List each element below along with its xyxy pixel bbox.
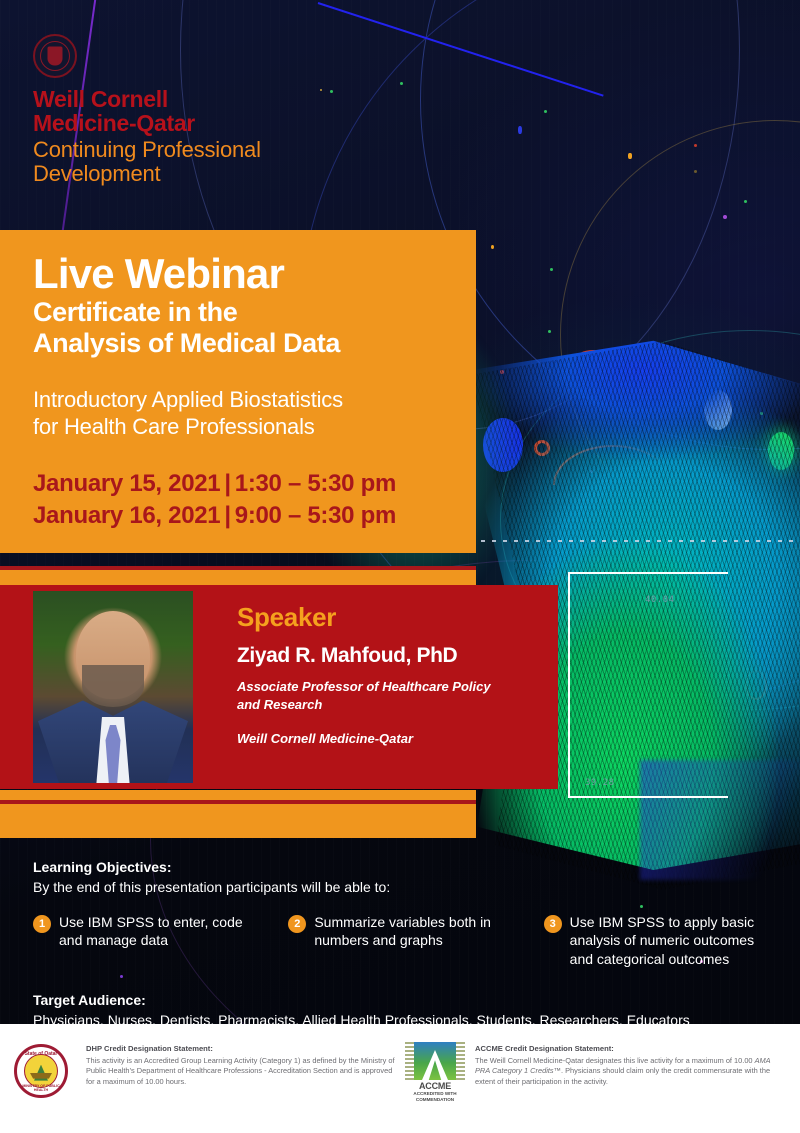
accme-logo-name: ACCME [405, 1081, 465, 1091]
dhp-statement-title: DHP Credit Designation Statement: [86, 1044, 395, 1055]
portrait-beard-shape [82, 665, 144, 707]
moph-seal-inner [24, 1054, 58, 1088]
divider-bar [0, 570, 476, 585]
cornell-seal-icon [33, 34, 77, 78]
accme-seal-icon: ACCME ACCREDITED WITH COMMENDATION [405, 1042, 465, 1133]
qatar-moph-seal-icon: State of Qatar MINISTRY OF PUBLIC HEALTH [14, 1042, 76, 1133]
objectives-lead: By the end of this presentation particip… [33, 879, 773, 895]
event-time: 1:30 – 5:30 pm [235, 470, 396, 497]
event-title-line2: Analysis of Medical Data [33, 328, 450, 359]
objectives-heading: Learning Objectives: [33, 859, 773, 875]
learning-objectives-section: Learning Objectives: By the end of this … [33, 859, 773, 1028]
event-date-row: January 15, 2021|1:30 – 5:30 pm [33, 468, 450, 500]
event-dates: January 15, 2021|1:30 – 5:30 pm January … [33, 468, 450, 533]
accme-body-part1: The Weill Cornell Medicine-Qatar designa… [475, 1056, 755, 1065]
accme-statement: ACCME Credit Designation Statement: The … [475, 1042, 786, 1133]
accme-logo-row [405, 1042, 465, 1080]
accme-logo-sub-line2: COMMENDATION [405, 1097, 465, 1103]
divider-bar [0, 790, 476, 800]
particle-dot [491, 245, 494, 249]
brand-name-line2: Medicine-Qatar [33, 111, 453, 135]
speaker-role-line1: Associate Professor of Healthcare Policy [237, 678, 547, 696]
event-subtitle-line2: for Health Care Professionals [33, 414, 450, 440]
accme-wreath-right [456, 1042, 465, 1080]
brand-sub-line2: Development [33, 162, 453, 186]
accme-mark-shape [414, 1042, 456, 1080]
particle-dot [723, 215, 727, 219]
date-separator: | [220, 502, 234, 529]
date-separator: | [220, 470, 234, 497]
divider-bar [0, 804, 476, 838]
event-date: January 16, 2021 [33, 502, 220, 529]
speaker-role-line2: and Research [237, 696, 547, 714]
objective-number-badge: 2 [288, 915, 306, 933]
brand-name: Weill Cornell Medicine-Qatar [33, 87, 453, 136]
speaker-role: Associate Professor of Healthcare Policy… [237, 678, 547, 713]
seal-shield-shape [48, 47, 63, 66]
webinar-poster: 40.04 39.28 Weill Cornell Medicine-Qatar… [0, 0, 800, 1133]
moph-top-text: State of Qatar [17, 1051, 65, 1057]
speaker-kicker: Speaker [237, 602, 547, 633]
moph-bottom-text: MINISTRY OF PUBLIC HEALTH [17, 1084, 65, 1092]
objective-number-badge: 1 [33, 915, 51, 933]
particle-dot [694, 170, 697, 173]
objective-text: Summarize variables both in numbers and … [314, 913, 517, 968]
mesh-axis-line [470, 540, 800, 542]
accreditation-footer: State of Qatar MINISTRY OF PUBLIC HEALTH… [0, 1024, 800, 1133]
brand-header: Weill Cornell Medicine-Qatar Continuing … [33, 34, 453, 186]
speaker-details: Speaker Ziyad R. Mahfoud, PhD Associate … [237, 602, 547, 746]
event-title-line1: Certificate in the [33, 297, 450, 328]
speaker-portrait [33, 591, 193, 783]
particle-dot [518, 126, 522, 134]
accme-accreditation-block: ACCME ACCREDITED WITH COMMENDATION ACCME… [405, 1042, 786, 1133]
brand-name-line1: Weill Cornell [33, 87, 453, 111]
speaker-organization: Weill Cornell Medicine-Qatar [237, 731, 547, 746]
moph-seal-shape: State of Qatar MINISTRY OF PUBLIC HEALTH [14, 1044, 68, 1098]
objective-text: Use IBM SPSS to enter, code and manage d… [59, 913, 262, 968]
objective-item: 1 Use IBM SPSS to enter, code and manage… [33, 913, 262, 968]
brand-sub-line1: Continuing Professional [33, 138, 453, 162]
accme-wreath-left [405, 1042, 414, 1080]
brand-subtitle: Continuing Professional Development [33, 138, 453, 186]
dhp-statement-body: This activity is an Accredited Group Lea… [86, 1056, 395, 1088]
objective-text: Use IBM SPSS to apply basic analysis of … [570, 913, 773, 968]
event-subtitle-line1: Introductory Applied Biostatistics [33, 387, 450, 413]
target-audience-heading: Target Audience: [33, 992, 773, 1008]
objectives-list: 1 Use IBM SPSS to enter, code and manage… [33, 913, 773, 968]
title-block: Live Webinar Certificate in the Analysis… [0, 230, 476, 553]
speaker-name: Ziyad R. Mahfoud, PhD [237, 644, 547, 668]
event-subtitle: Introductory Applied Biostatistics for H… [33, 387, 450, 440]
event-time: 9:00 – 5:30 pm [235, 502, 396, 529]
particle-dot [628, 153, 632, 159]
accme-statement-body: The Weill Cornell Medicine-Qatar designa… [475, 1056, 786, 1088]
objective-item: 2 Summarize variables both in numbers an… [288, 913, 517, 968]
event-date: January 15, 2021 [33, 470, 220, 497]
accme-statement-title: ACCME Credit Designation Statement: [475, 1044, 786, 1055]
objective-number-badge: 3 [544, 915, 562, 933]
dhp-statement: DHP Credit Designation Statement: This a… [86, 1042, 395, 1133]
particle-dot [550, 268, 553, 271]
particle-dot [744, 200, 747, 203]
particle-dot [544, 110, 547, 113]
event-kicker: Live Webinar [33, 252, 450, 296]
event-date-row: January 16, 2021|9:00 – 5:30 pm [33, 500, 450, 532]
dhp-accreditation-block: State of Qatar MINISTRY OF PUBLIC HEALTH… [14, 1042, 395, 1133]
particle-dot [694, 144, 697, 147]
objective-item: 3 Use IBM SPSS to apply basic analysis o… [544, 913, 773, 968]
decorative-white-frame [568, 572, 728, 798]
